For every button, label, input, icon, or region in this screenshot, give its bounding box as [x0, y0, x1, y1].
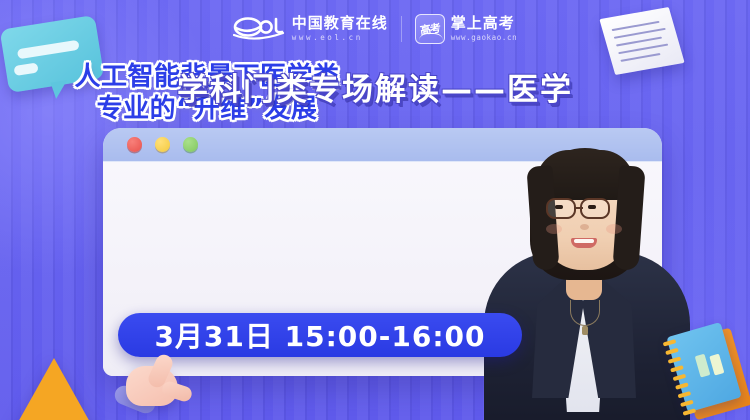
eol-logo-text: 中国教育在线 www.eol.cn — [292, 16, 388, 42]
eol-logo: 中国教育在线 www.eol.cn — [233, 16, 388, 42]
paper-line — [618, 44, 668, 55]
gaokao-logo: 高考 掌上高考 www.gaokao.cn — [415, 14, 518, 44]
window-maximize-dot-icon[interactable] — [183, 137, 198, 152]
speaker-pendant — [582, 326, 588, 335]
speaker-eye-left — [555, 205, 563, 209]
notebook-spiral-ring — [678, 391, 692, 398]
gaokao-name-cn: 掌上高考 — [451, 16, 518, 31]
notebook-bookmark-2 — [709, 354, 724, 376]
pointing-hand-icon — [116, 352, 196, 414]
poster-canvas: 中国教育在线 www.eol.cn 高考 掌上高考 www.gaokao.cn … — [0, 0, 750, 420]
speaker-teeth — [574, 239, 594, 243]
gaokao-url: www.gaokao.cn — [451, 34, 518, 42]
speaker-nose — [580, 224, 589, 230]
gaokao-book-icon: 高考 — [415, 14, 445, 44]
schedule-text: 3月31日 15:00-16:00 — [154, 315, 485, 355]
window-close-dot-icon[interactable] — [127, 137, 142, 152]
eol-logo-icon — [233, 16, 285, 42]
eol-name-cn: 中国教育在线 — [292, 16, 388, 31]
paper-line — [620, 53, 660, 62]
logo-divider — [401, 16, 402, 42]
speaker-glasses-bridge — [575, 207, 583, 209]
notebook-bookmark-1 — [695, 354, 711, 378]
speaker-blush-right — [606, 224, 622, 234]
speaker-photo — [470, 132, 700, 420]
notebook-spiral-ring — [673, 374, 687, 381]
notebook-spiral-ring — [668, 356, 682, 363]
page-title: 学科门类专场解读——医学 — [0, 64, 750, 109]
gaokao-logo-text: 掌上高考 www.gaokao.cn — [451, 16, 518, 42]
book-base-shape — [419, 33, 443, 41]
window-minimize-dot-icon[interactable] — [155, 137, 170, 152]
logo-bar: 中国教育在线 www.eol.cn 高考 掌上高考 www.gaokao.cn — [0, 14, 750, 44]
eol-url: www.eol.cn — [292, 34, 388, 42]
notebook-spiral-ring — [680, 400, 694, 407]
speaker-eye-right — [588, 205, 596, 209]
triangle-cone-icon — [8, 358, 100, 420]
notebook-spiral-ring — [670, 365, 684, 372]
notebook-spiral-ring — [665, 348, 679, 355]
notebook-spiral-ring — [675, 382, 689, 389]
schedule-badge: 3月31日 15:00-16:00 — [118, 313, 522, 357]
notebook-spiral-ring — [663, 339, 677, 346]
speaker-blush-left — [546, 224, 562, 234]
notebook-spiral-ring — [683, 408, 697, 415]
